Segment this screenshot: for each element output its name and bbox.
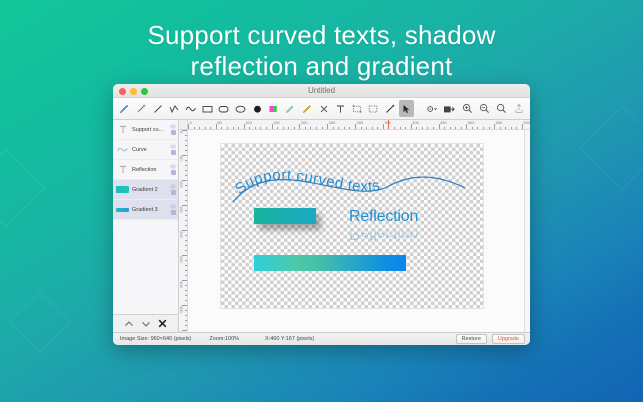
- headline-line-1: Support curved texts, shadow: [0, 20, 643, 51]
- ruler-tick: [185, 210, 188, 211]
- layer-toggles: [170, 164, 176, 175]
- ruler-tick: [450, 127, 451, 130]
- visibility-eye-icon[interactable]: [170, 144, 176, 149]
- ruler-tick: [489, 127, 490, 130]
- ruler-tick: [249, 127, 250, 130]
- lock-icon[interactable]: [171, 130, 176, 135]
- status-bar: Image Size: 960×640 (pixels) Zoom:100% X…: [113, 332, 530, 345]
- horizontal-ruler[interactable]: 050100150200250300350400450500550600: [188, 120, 530, 130]
- ruler-tick: [483, 127, 484, 130]
- filled-shape-tool[interactable]: [250, 100, 265, 117]
- visibility-eye-icon[interactable]: [170, 204, 176, 209]
- export-tool[interactable]: [441, 100, 456, 117]
- marquee-select-tool[interactable]: [366, 100, 381, 117]
- image-size-status: Image Size: 960×640 (pixels): [120, 336, 191, 342]
- ruler-tick: [205, 127, 206, 130]
- ruler-label: 600: [524, 120, 531, 125]
- ruler-tick: [400, 127, 401, 130]
- ruler-tick: [185, 320, 188, 321]
- pencil-tool[interactable]: [300, 100, 315, 117]
- zoom-status: Zoom:100%: [209, 336, 239, 342]
- layer-toggles: [170, 144, 176, 155]
- ruler-label: 0: [179, 131, 184, 133]
- ruler-tick: [310, 127, 311, 130]
- ruler-tick: [461, 127, 462, 130]
- ruler-tick: [185, 215, 188, 216]
- ruler-tick: [227, 127, 228, 130]
- canvas-row: 050100150200250300350400 Support curved …: [179, 130, 530, 332]
- shadow-rectangle[interactable]: [254, 208, 316, 224]
- zoom-button-group: [460, 100, 526, 117]
- ruler-tick: [185, 260, 188, 261]
- ruler-tick: [427, 127, 428, 130]
- editor-area: 050100150200250300350400450500550600 050…: [179, 120, 530, 332]
- ruler-tick: [185, 250, 188, 251]
- layer-name: Curve: [132, 147, 167, 153]
- ruler-tick: [185, 270, 188, 271]
- app-window: Untitled: [113, 84, 530, 345]
- ruler-tick: [194, 127, 195, 130]
- ruler-label: 0: [190, 120, 192, 125]
- ruler-tick: [185, 190, 188, 191]
- list-item[interactable]: Reflection: [113, 160, 178, 180]
- ruler-tick: [185, 265, 188, 266]
- ruler-label: 50: [179, 156, 184, 160]
- ruler-label: 400: [412, 120, 419, 125]
- ruler-tick: [185, 185, 188, 186]
- ruler-tick: [288, 127, 289, 130]
- ruler-label: 300: [179, 281, 184, 288]
- lock-icon[interactable]: [171, 190, 176, 195]
- ruler-tick: [185, 295, 188, 296]
- ruler-tick: [185, 175, 188, 176]
- ruler-tick: [472, 127, 473, 130]
- ellipse-tool[interactable]: [233, 100, 248, 117]
- lock-icon[interactable]: [171, 210, 176, 215]
- eyedropper-tool[interactable]: [283, 100, 298, 117]
- line-tool[interactable]: [150, 100, 165, 117]
- ruler-cursor-marker: [388, 120, 389, 129]
- window-titlebar: Untitled: [113, 84, 530, 98]
- ruler-tick: [455, 127, 456, 130]
- ruler-tick: [444, 127, 445, 130]
- ruler-tick: [333, 127, 334, 130]
- window-body: Support cu... Curve: [113, 120, 530, 332]
- upgrade-button[interactable]: Upgrade: [492, 334, 525, 344]
- page-headline: Support curved texts, shadow reflection …: [0, 20, 643, 82]
- list-item[interactable]: Curve: [113, 140, 178, 160]
- ruler-row: 050100150200250300350400450500550600: [179, 120, 530, 130]
- ruler-tick: [266, 127, 267, 130]
- ruler-tick: [277, 127, 278, 130]
- ruler-label: 200: [179, 231, 184, 238]
- canvas-viewport[interactable]: Support curved texts Reflection Reflecti…: [188, 130, 524, 332]
- layer-toggles: [170, 184, 176, 195]
- ruler-label: 250: [329, 120, 336, 125]
- ruler-tick: [185, 195, 188, 196]
- brush-tool[interactable]: [134, 100, 149, 117]
- pointer-tool[interactable]: [399, 100, 414, 117]
- settings-tool[interactable]: [425, 100, 440, 117]
- svg-text:Support curved texts: Support curved texts: [232, 167, 382, 198]
- gradient-tool[interactable]: [266, 100, 281, 117]
- layers-sidebar: Support cu... Curve: [113, 120, 179, 332]
- ruler-tick: [185, 170, 188, 171]
- curve-tool[interactable]: [183, 100, 198, 117]
- list-item[interactable]: Gradient 3: [113, 200, 178, 220]
- ruler-label: 100: [245, 120, 252, 125]
- ruler-tick: [221, 127, 222, 130]
- ruler-tick: [316, 127, 317, 130]
- lock-icon[interactable]: [171, 170, 176, 175]
- ruler-tick: [185, 145, 188, 146]
- vertical-ruler[interactable]: 050100150200250300350400: [179, 130, 188, 332]
- layer-name: Gradient 3: [132, 207, 167, 213]
- text-layer-icon: [116, 124, 129, 136]
- lock-icon[interactable]: [171, 150, 176, 155]
- ruler-tick: [500, 127, 501, 130]
- list-item[interactable]: Support cu...: [113, 120, 178, 140]
- ruler-tick: [260, 127, 261, 130]
- visibility-eye-icon[interactable]: [170, 124, 176, 129]
- ruler-tick: [366, 127, 367, 130]
- delete-layer-button[interactable]: [157, 318, 169, 329]
- ruler-tick: [372, 127, 373, 130]
- ruler-tick: [344, 127, 345, 130]
- polyline-tool[interactable]: [167, 100, 182, 117]
- ruler-label: 550: [496, 120, 503, 125]
- ruler-tick: [349, 127, 350, 130]
- ruler-tick: [361, 127, 362, 130]
- artboard[interactable]: Support curved texts Reflection Reflecti…: [221, 144, 483, 308]
- zoom-out-button[interactable]: [477, 100, 492, 117]
- text-tool[interactable]: [333, 100, 348, 117]
- rounded-rect-tool[interactable]: [217, 100, 232, 117]
- ruler-label: 450: [440, 120, 447, 125]
- ruler-tick: [210, 127, 211, 130]
- ruler-tick: [477, 127, 478, 130]
- zoom-fit-button[interactable]: [494, 100, 509, 117]
- layer-name: Reflection: [132, 167, 167, 173]
- ruler-label: 250: [179, 256, 184, 263]
- magic-wand-tool[interactable]: [383, 100, 398, 117]
- rectangle-tool[interactable]: [200, 100, 215, 117]
- cursor-coordinates-status: X:460 Y:167 (pixels): [265, 336, 314, 342]
- transform-tool[interactable]: [350, 100, 365, 117]
- move-layer-down-button[interactable]: [140, 318, 152, 329]
- ruler-tick: [185, 135, 188, 136]
- restore-button[interactable]: Restore: [456, 334, 487, 344]
- ruler-label: 200: [301, 120, 308, 125]
- ruler-tick: [294, 127, 295, 130]
- ruler-tick: [185, 200, 188, 201]
- ruler-tick: [185, 275, 188, 276]
- ruler-tick: [322, 127, 323, 130]
- layer-toggles: [170, 124, 176, 135]
- ruler-tick: [185, 300, 188, 301]
- ruler-tick: [405, 127, 406, 130]
- ruler-tick: [511, 127, 512, 130]
- ruler-label: 300: [357, 120, 364, 125]
- ruler-tick: [185, 325, 188, 326]
- ruler-tick: [338, 127, 339, 130]
- gradient-layer-swatch: [116, 184, 129, 196]
- ruler-tick: [185, 150, 188, 151]
- ruler-tick: [394, 127, 395, 130]
- reflection-text-mirror: Reflection: [349, 224, 418, 242]
- gradient-bar[interactable]: [254, 255, 406, 271]
- window-title: Untitled: [113, 86, 530, 95]
- ruler-tick: [199, 127, 200, 130]
- ruler-tick: [305, 127, 306, 130]
- ruler-tick: [185, 160, 188, 161]
- ruler-tick: [238, 127, 239, 130]
- move-layer-up-button[interactable]: [123, 318, 135, 329]
- ruler-tick: [516, 127, 517, 130]
- ruler-label: 100: [179, 181, 184, 188]
- ruler-tick: [255, 127, 256, 130]
- ruler-tick: [416, 127, 417, 130]
- layer-toggles: [170, 204, 176, 215]
- ruler-tick: [185, 240, 188, 241]
- ruler-tick: [185, 140, 188, 141]
- headline-line-2: reflection and gradient: [0, 51, 643, 82]
- ruler-label: 500: [468, 120, 475, 125]
- ruler-label: 150: [273, 120, 280, 125]
- layer-name: Gradient 2: [132, 187, 167, 193]
- ruler-tick: [185, 245, 188, 246]
- ruler-label: 350: [179, 306, 184, 313]
- ruler-tick: [185, 310, 188, 311]
- list-item[interactable]: Gradient 2: [113, 180, 178, 200]
- ruler-tick: [283, 127, 284, 130]
- vertical-scrollbar[interactable]: [524, 130, 530, 332]
- gradient-layer-swatch: [116, 204, 129, 216]
- visibility-eye-icon[interactable]: [170, 164, 176, 169]
- ruler-tick: [185, 285, 188, 286]
- ruler-label: 50: [217, 120, 221, 125]
- ruler-tick: [185, 315, 188, 316]
- ruler-tick: [377, 127, 378, 130]
- ruler-tick: [505, 127, 506, 130]
- ruler-label: 150: [179, 206, 184, 213]
- ruler-tick: [185, 290, 188, 291]
- ruler-tick: [185, 235, 188, 236]
- curve-layer-icon: [116, 144, 129, 156]
- zoom-in-button[interactable]: [460, 100, 475, 117]
- ruler-tick: [185, 165, 188, 166]
- ruler-tick: [422, 127, 423, 130]
- layer-list: Support cu... Curve: [113, 120, 178, 314]
- ruler-corner[interactable]: [179, 120, 188, 130]
- layer-name: Support cu...: [132, 127, 167, 133]
- eraser-tool[interactable]: [316, 100, 331, 117]
- editor-toolbar: [113, 98, 530, 120]
- ruler-tick: [233, 127, 234, 130]
- layer-controls: [113, 314, 178, 332]
- pen-tool[interactable]: [117, 100, 132, 117]
- ruler-tick: [433, 127, 434, 130]
- visibility-eye-icon[interactable]: [170, 184, 176, 189]
- ruler-tick: [185, 220, 188, 221]
- ruler-label: 400: [179, 331, 184, 332]
- ruler-tick: [185, 225, 188, 226]
- curved-text-object[interactable]: Support curved texts: [229, 154, 469, 210]
- text-layer-icon: [116, 164, 129, 176]
- share-button[interactable]: [511, 100, 526, 117]
